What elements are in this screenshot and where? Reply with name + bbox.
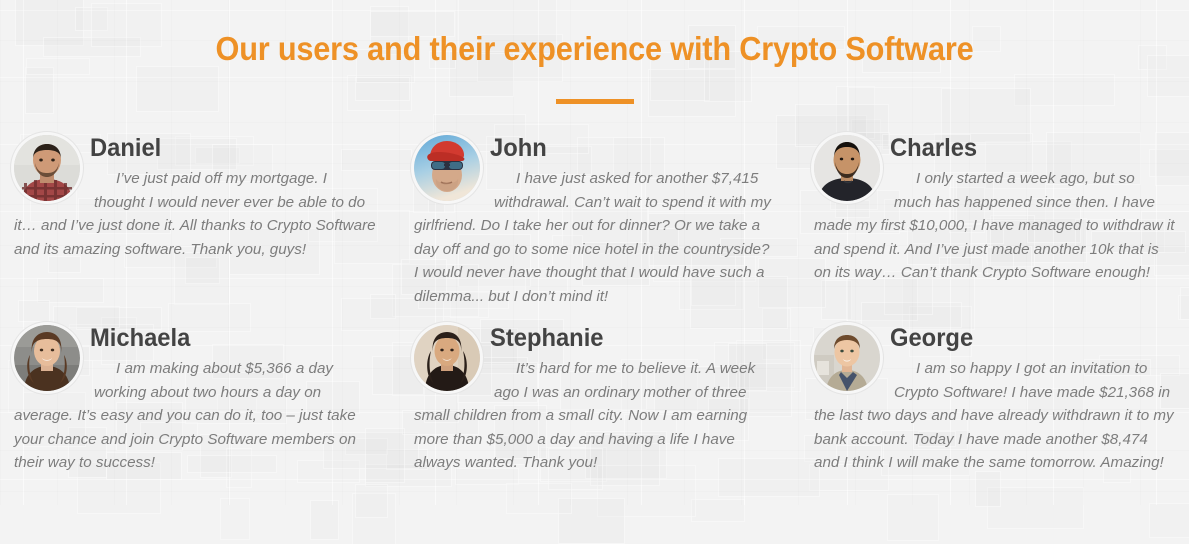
- testimonial-name: Daniel: [14, 131, 358, 167]
- title-divider-wrap: [0, 91, 1189, 109]
- testimonial-card: Stephanie It’s hard for me to believe it…: [414, 321, 776, 501]
- testimonial-card: George I am so happy I got an invitation…: [814, 321, 1176, 501]
- title-divider: [556, 99, 634, 104]
- testimonial-name: Michaela: [14, 321, 358, 357]
- testimonials-page: Our users and their experience with Cryp…: [0, 0, 1189, 505]
- testimonial-grid: Daniel I’ve just paid off my mortgage. I…: [14, 131, 1176, 501]
- testimonial-name: Charles: [814, 131, 1158, 167]
- testimonial-card: Charles I only started a week ago, but s…: [814, 131, 1176, 321]
- testimonial-name: John: [414, 131, 758, 167]
- testimonial-name: George: [814, 321, 1158, 357]
- testimonial-card: Michaela I am making about $5,366 a day …: [14, 321, 376, 501]
- testimonial-name: Stephanie: [414, 321, 758, 357]
- page-title: Our users and their experience with Cryp…: [42, 0, 1148, 69]
- testimonial-card: Daniel I’ve just paid off my mortgage. I…: [14, 131, 376, 321]
- testimonial-card: John I have just asked for another $7,41…: [414, 131, 776, 321]
